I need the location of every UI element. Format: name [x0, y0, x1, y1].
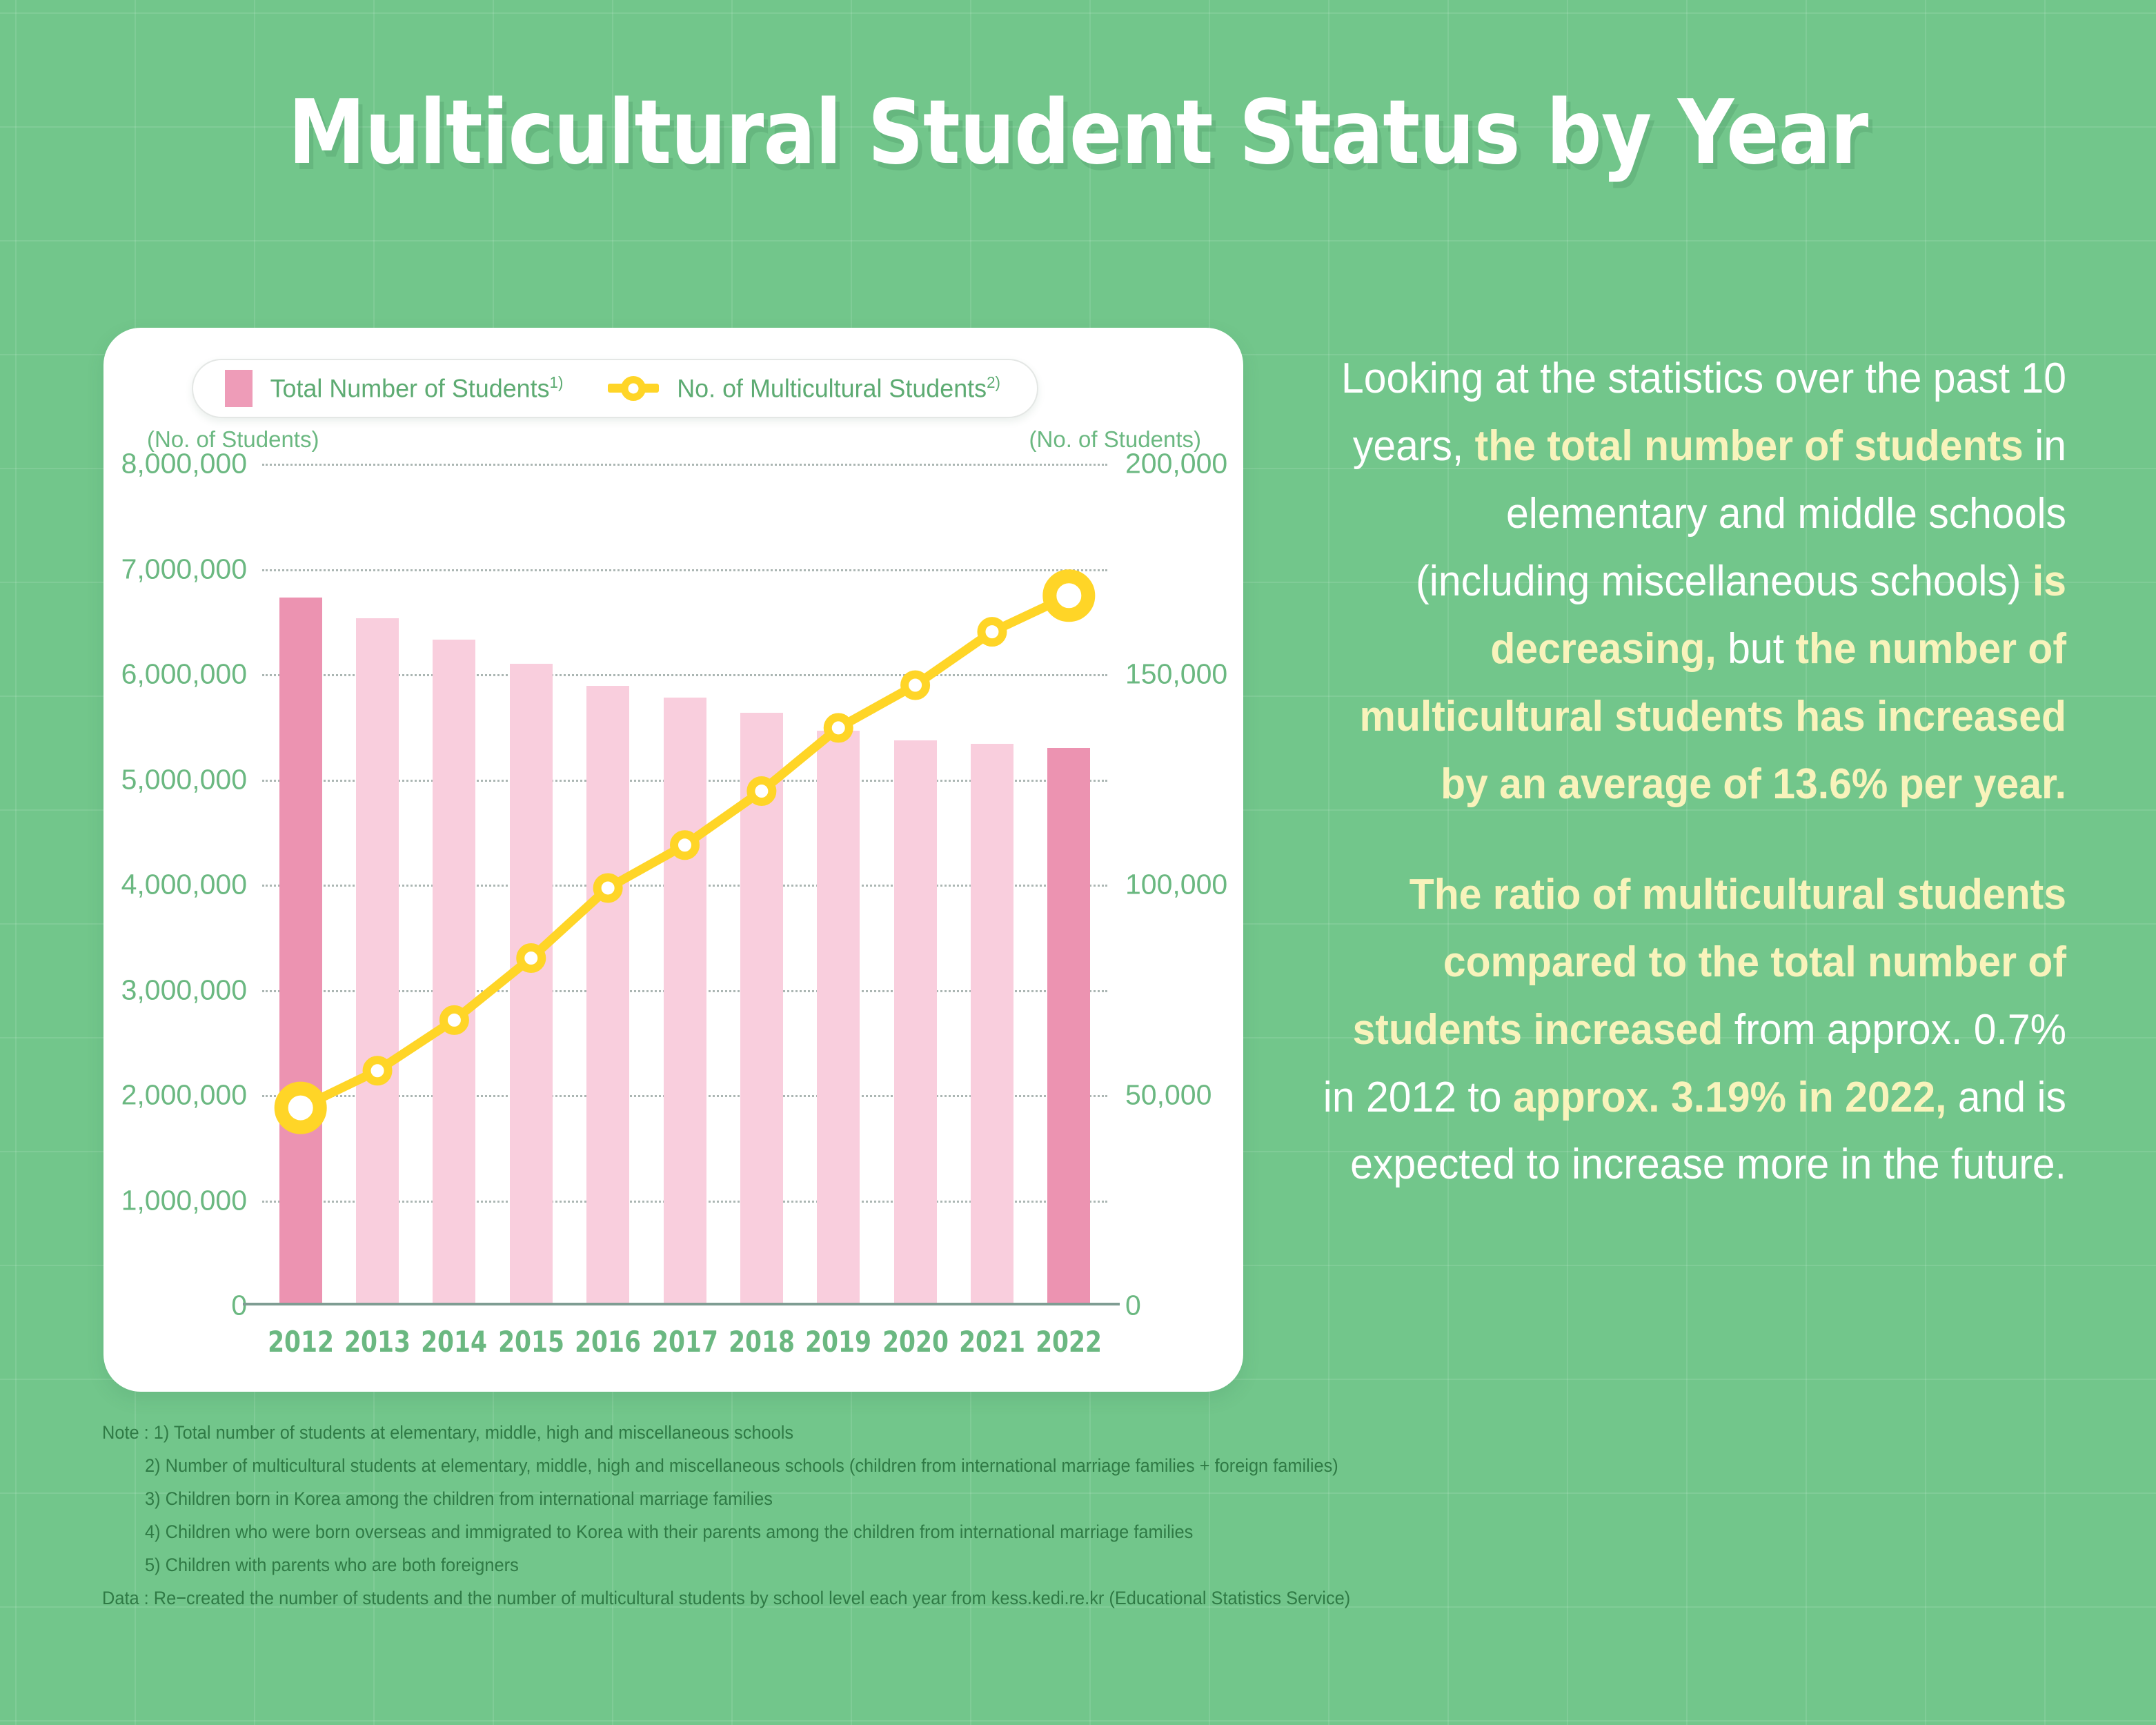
x-label-2021: 2021 [959, 1325, 1025, 1359]
left-tick-7000000: 7,000,000 [121, 553, 247, 585]
line-circle-marker-icon [608, 384, 659, 393]
footnote-line: Data : Re−created the number of students… [102, 1581, 1723, 1615]
x-label-2013: 2013 [344, 1325, 411, 1359]
line-marker-2017[interactable] [674, 834, 695, 856]
line-marker-2013[interactable] [367, 1060, 388, 1081]
left-tick-8000000: 8,000,000 [121, 448, 247, 480]
emphasis-text: approx. 3.19% in 2022, [1513, 1074, 1947, 1121]
legend-label-multicultural-students: No. of Multicultural Students2) [677, 373, 1000, 403]
legend-item-multicultural-students[interactable]: No. of Multicultural Students2) [608, 373, 1005, 403]
line-marker-2018[interactable] [751, 780, 772, 802]
x-label-2017: 2017 [652, 1325, 718, 1359]
body-text: but [1717, 625, 1796, 673]
legend-item-total-students[interactable]: Total Number of Students1) [225, 370, 568, 407]
line-marker-2014[interactable] [444, 1009, 465, 1031]
left-tick-5000000: 5,000,000 [121, 763, 247, 796]
right-tick-50000: 50,000 [1125, 1079, 1211, 1112]
commentary-text: Looking at the statistics over the past … [1323, 345, 2066, 1199]
line-marker-2021[interactable] [981, 621, 1002, 642]
left-tick-6000000: 6,000,000 [121, 658, 247, 691]
footnote-line: Note : 1) Total number of students at el… [102, 1416, 1723, 1449]
line-marker-2016[interactable] [597, 877, 619, 898]
footnote-line: 3) Children born in Korea among the chil… [102, 1482, 1723, 1515]
chart-card: Total Number of Students1) No. of Multic… [103, 328, 1243, 1392]
line-series [262, 464, 1107, 1305]
x-label-2020: 2020 [882, 1325, 949, 1359]
line-marker-2019[interactable] [828, 717, 849, 738]
bar-swatch-icon [225, 370, 253, 407]
x-label-2014: 2014 [421, 1325, 487, 1359]
left-tick-1000000: 1,000,000 [121, 1184, 247, 1216]
footnote-line: 4) Children who were born overseas and i… [102, 1515, 1723, 1548]
footnote-line: 2) Number of multicultural students at e… [102, 1449, 1723, 1482]
line-marker-2022[interactable] [1049, 576, 1088, 615]
right-tick-0: 0 [1125, 1290, 1141, 1322]
left-tick-3000000: 3,000,000 [121, 974, 247, 1006]
footnotes: Note : 1) Total number of students at el… [102, 1416, 1723, 1615]
left-tick-0: 0 [231, 1290, 247, 1322]
line-marker-2015[interactable] [520, 947, 542, 969]
line-marker-2020[interactable] [904, 674, 926, 696]
right-tick-100000: 100,000 [1125, 869, 1227, 901]
left-tick-4000000: 4,000,000 [121, 869, 247, 901]
footnote-line: 5) Children with parents who are both fo… [102, 1548, 1723, 1581]
commentary-paragraph-2: The ratio of multicultural students comp… [1323, 861, 2066, 1199]
page-title: Multicultural Student Status by Year [130, 81, 2027, 184]
x-axis-baseline [243, 1303, 1120, 1305]
x-label-2012: 2012 [268, 1325, 334, 1359]
emphasis-text: the total number of students [1475, 422, 2024, 470]
legend-label-total-students: Total Number of Students1) [270, 373, 564, 403]
x-label-2015: 2015 [498, 1325, 564, 1359]
right-tick-200000: 200,000 [1125, 448, 1227, 480]
left-tick-2000000: 2,000,000 [121, 1079, 247, 1112]
plot-area: 8,000,0007,000,0006,000,0005,000,0004,00… [262, 464, 1107, 1305]
line-marker-2012[interactable] [281, 1089, 320, 1127]
chart-legend: Total Number of Students1) No. of Multic… [192, 359, 1038, 418]
x-label-2022: 2022 [1036, 1325, 1102, 1359]
x-label-2016: 2016 [575, 1325, 641, 1359]
commentary-paragraph-1: Looking at the statistics over the past … [1323, 345, 2066, 818]
right-tick-150000: 150,000 [1125, 658, 1227, 691]
x-label-2019: 2019 [805, 1325, 871, 1359]
x-label-2018: 2018 [729, 1325, 795, 1359]
